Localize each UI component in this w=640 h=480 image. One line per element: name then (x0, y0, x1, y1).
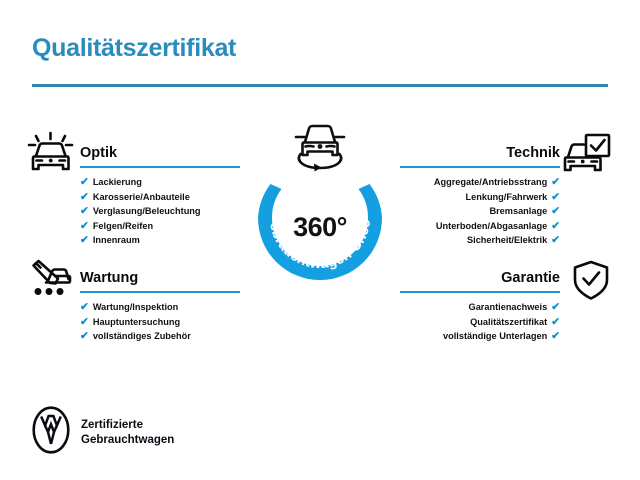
section-divider-optik (80, 166, 240, 168)
list-item: ✔ vollständiges Zubehör (80, 329, 240, 344)
list-item: ✔ Innenraum (80, 233, 240, 248)
list-item-label: Bremsanlage (489, 204, 547, 219)
list-item: ✔ Lackierung (80, 175, 240, 190)
checklist-technik: Aggregate/Antriebsstrang ✔ Lenkung/Fahrw… (400, 175, 560, 248)
list-item: Garantienachweis ✔ (400, 300, 560, 315)
list-item: ✔ Hauptuntersuchung (80, 315, 240, 330)
list-item-label: Wartung/Inspektion (93, 300, 178, 315)
section-title-technik: Technik (400, 145, 560, 162)
check-icon: ✔ (80, 235, 89, 246)
list-item: Aggregate/Antriebsstrang ✔ (400, 175, 560, 190)
list-item-label: Verglasung/Beleuchtung (93, 204, 201, 219)
section-technik: Technik Aggregate/Antriebsstrang ✔ Lenku… (400, 145, 560, 248)
check-icon: ✔ (551, 206, 560, 217)
car-checkbox-icon (562, 132, 612, 181)
check-icon: ✔ (80, 302, 89, 313)
check-icon: ✔ (80, 192, 89, 203)
list-item: ✔ Wartung/Inspektion (80, 300, 240, 315)
check-icon: ✔ (551, 221, 560, 232)
check-icon: ✔ (80, 221, 89, 232)
list-item: Bremsanlage ✔ (400, 204, 560, 219)
check-icon: ✔ (551, 177, 560, 188)
list-item: ✔ Verglasung/Beleuchtung (80, 204, 240, 219)
list-item-label: Aggregate/Antriebsstrang (434, 175, 547, 190)
checklist-wartung: ✔ Wartung/Inspektion ✔ Hauptuntersuchung… (80, 300, 240, 344)
section-title-optik: Optik (80, 145, 240, 162)
brand-line-2: Gebrauchtwagen (81, 433, 174, 448)
check-icon: ✔ (80, 317, 89, 328)
section-garantie: Garantie Garantienachweis ✔ Qualitätszer… (400, 270, 560, 344)
check-icon: ✔ (551, 302, 560, 313)
360-gebrauchtwagen-check-badge: Gebrauchtwagen-Check 360° (250, 120, 390, 290)
list-item-label: Innenraum (93, 233, 140, 248)
check-icon: ✔ (551, 235, 560, 246)
check-icon: ✔ (551, 317, 560, 328)
check-icon: ✔ (551, 192, 560, 203)
section-divider-garantie (400, 291, 560, 293)
checklist-optik: ✔ Lackierung ✔ Karosserie/Anbauteile ✔ V… (80, 175, 240, 248)
list-item: Qualitätszertifikat ✔ (400, 315, 560, 330)
list-item-label: Felgen/Reifen (93, 219, 153, 234)
list-item-label: Sicherheit/Elektrik (467, 233, 547, 248)
section-title-garantie: Garantie (400, 270, 560, 287)
list-item-label: Qualitätszertifikat (470, 315, 547, 330)
page-title: Qualitätszertifikat (32, 34, 236, 63)
section-title-wartung: Wartung (80, 270, 240, 287)
check-icon: ✔ (551, 331, 560, 342)
list-item: Unterboden/Abgasanlage ✔ (400, 219, 560, 234)
list-item: Sicherheit/Elektrik ✔ (400, 233, 560, 248)
list-item: ✔ Felgen/Reifen (80, 219, 240, 234)
check-icon: ✔ (80, 177, 89, 188)
list-item-label: Lenkung/Fahrwerk (466, 190, 548, 205)
section-divider-wartung (80, 291, 240, 293)
badge-center-label: 360° (250, 212, 390, 243)
list-item-label: vollständige Unterlagen (443, 329, 547, 344)
car-service-pen-icon (27, 258, 75, 307)
list-item-label: Lackierung (93, 175, 142, 190)
qualitaetszertifikat-page: Qualitätszertifikat Optik ✔ (0, 0, 640, 480)
list-item-label: Hauptuntersuchung (93, 315, 180, 330)
list-item-label: vollständiges Zubehör (93, 329, 191, 344)
header-divider (32, 84, 608, 87)
list-item: ✔ Karosserie/Anbauteile (80, 190, 240, 205)
check-icon: ✔ (80, 206, 89, 217)
section-divider-technik (400, 166, 560, 168)
list-item: Lenkung/Fahrwerk ✔ (400, 190, 560, 205)
vw-logo-icon (32, 406, 70, 459)
list-item: vollständige Unterlagen ✔ (400, 329, 560, 344)
section-optik: Optik ✔ Lackierung ✔ Karosserie/Anbautei… (80, 145, 240, 248)
section-wartung: Wartung ✔ Wartung/Inspektion ✔ Hauptunte… (80, 270, 240, 344)
brand-line-1: Zertifizierte (81, 418, 174, 433)
checklist-garantie: Garantienachweis ✔ Qualitätszertifikat ✔… (400, 300, 560, 344)
car-shine-icon (27, 131, 75, 180)
brand-text: Zertifizierte Gebrauchtwagen (81, 418, 174, 447)
list-item-label: Garantienachweis (469, 300, 548, 315)
list-item-label: Karosserie/Anbauteile (93, 190, 190, 205)
vw-brand-lockup: Zertifizierte Gebrauchtwagen (32, 406, 174, 459)
check-icon: ✔ (80, 331, 89, 342)
list-item-label: Unterboden/Abgasanlage (436, 219, 547, 234)
shield-check-icon (570, 259, 612, 308)
